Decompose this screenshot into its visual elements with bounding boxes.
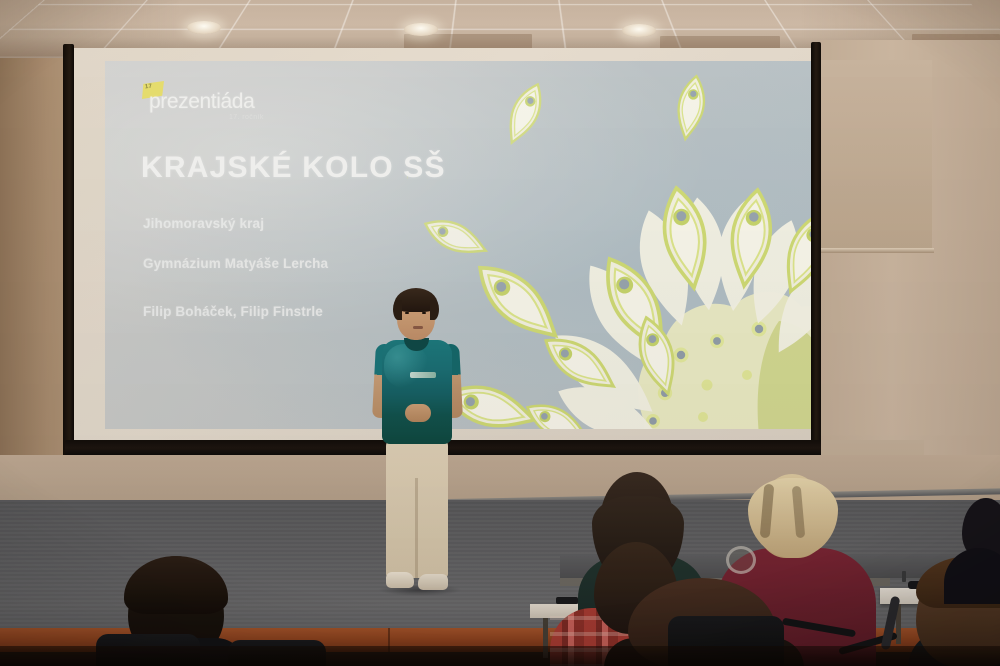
ceiling-downlight-icon <box>187 21 221 34</box>
room: 17 prezentiáda 17. ročník KRAJSKÉ KOLO S… <box>0 0 1000 666</box>
prezentiada-logo: 17 prezentiáda 17. ročník <box>141 81 291 125</box>
slide-title: KRAJSKÉ KOLO SŠ <box>141 151 446 185</box>
wall-recess-ledge <box>806 248 934 253</box>
ceiling-downlight-icon <box>622 24 656 37</box>
presenter-shoe-left <box>386 572 414 588</box>
presenter <box>360 288 476 618</box>
slide-line-region: Jihomoravský kraj <box>143 216 264 231</box>
presenter-mouth <box>413 326 423 329</box>
presenter-pants-seam <box>415 478 418 578</box>
screen-frame-right <box>811 42 821 462</box>
presenter-shoe-right <box>418 574 448 590</box>
presenter-hair-side <box>430 300 439 320</box>
cup-icon <box>726 546 756 574</box>
ceiling-downlight-icon <box>404 23 438 36</box>
presenter-eye <box>405 312 409 314</box>
presenter-eye <box>422 312 426 314</box>
slide-line-authors: Filip Boháček, Filip Finstrle <box>143 304 323 319</box>
phone-icon <box>556 597 578 604</box>
logo-edition: 17. ročník <box>229 114 264 121</box>
presenter-shirt-highlight <box>384 344 428 388</box>
foreground-shadow <box>0 646 1000 666</box>
slide-line-school: Gymnázium Matyáše Lercha <box>143 256 328 271</box>
wall-recess-upper <box>806 60 932 250</box>
screen-frame-left <box>63 44 74 458</box>
presenter-hair-side <box>393 300 402 320</box>
presenter-shirt-logo-icon <box>410 372 436 378</box>
small-object <box>902 571 906 582</box>
photo-scene: 17 prezentiáda 17. ročník KRAJSKÉ KOLO S… <box>0 0 1000 666</box>
presenter-hands <box>405 404 431 422</box>
logo-wordmark: prezentiáda <box>149 91 254 112</box>
